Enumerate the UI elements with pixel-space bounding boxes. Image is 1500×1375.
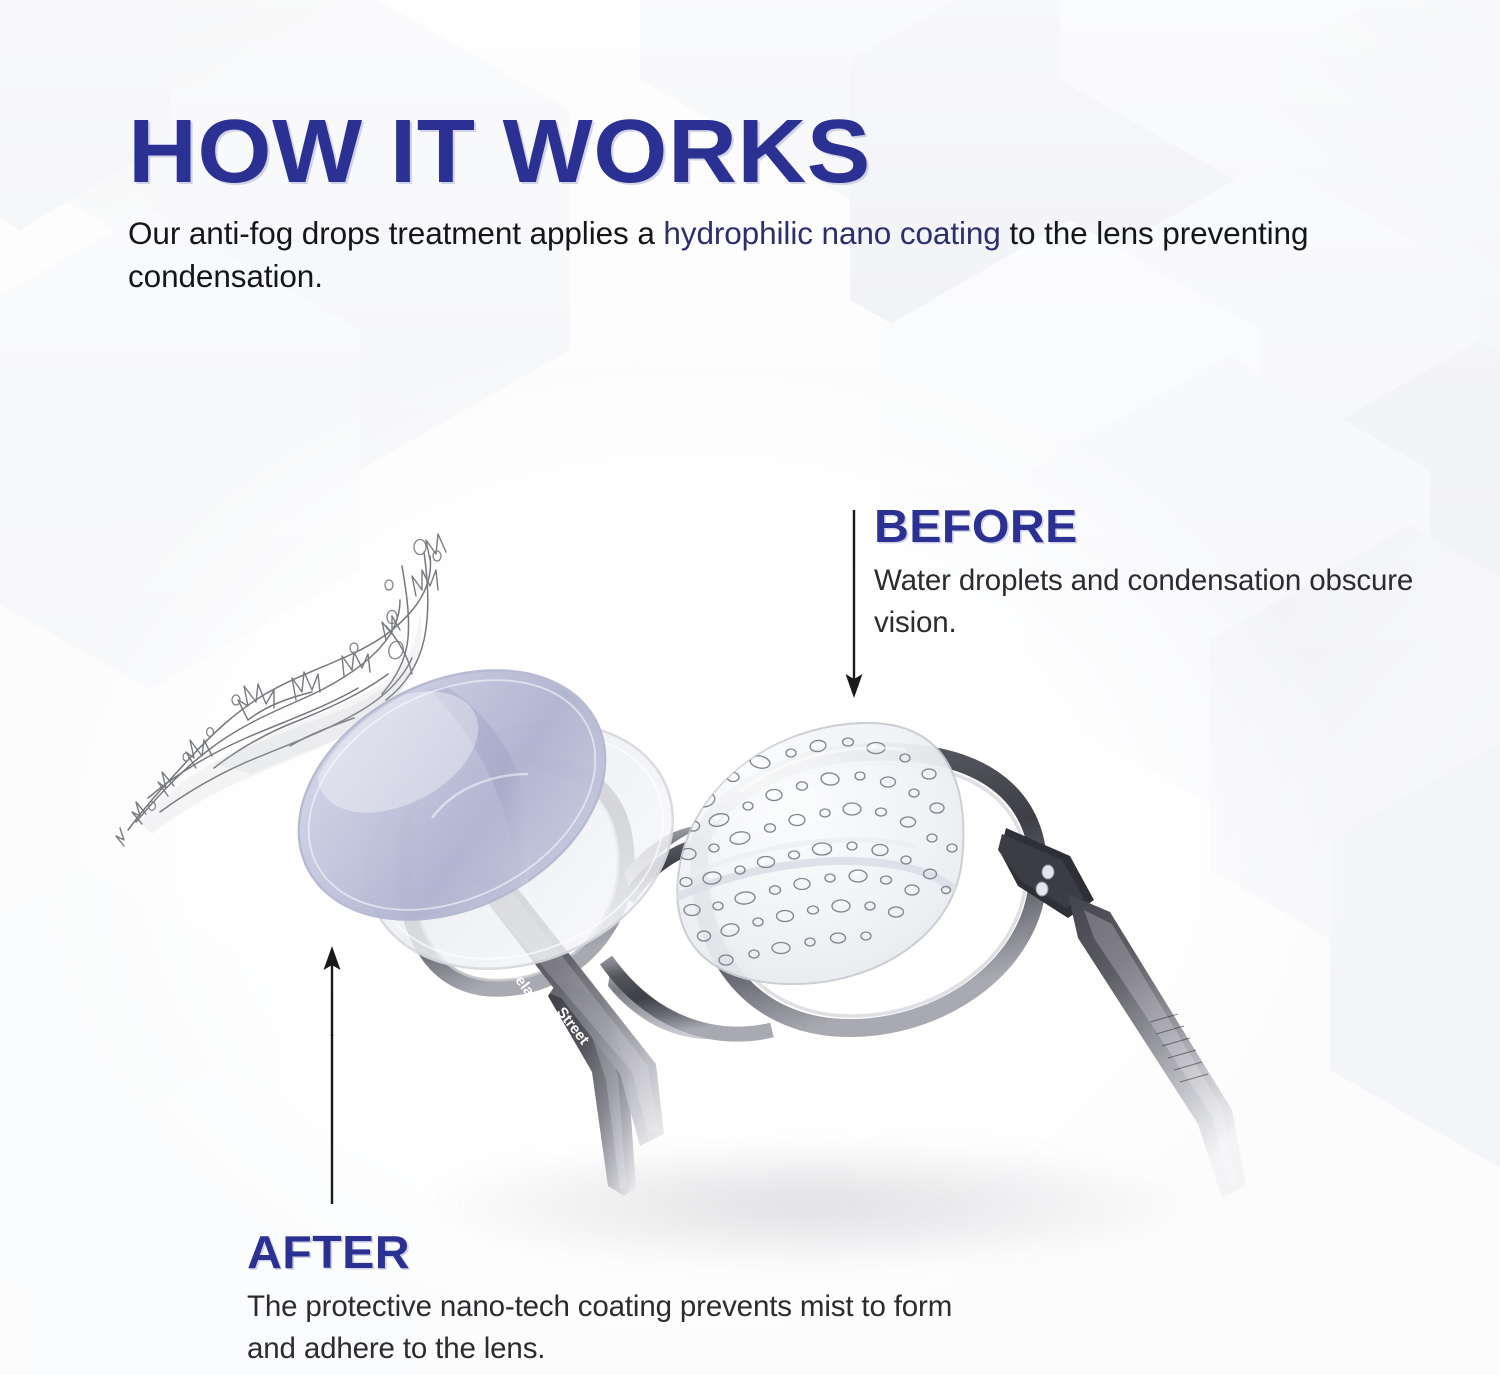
- arrow-down-icon: [838, 508, 872, 703]
- callout-after-body: The protective nano-tech coating prevent…: [247, 1286, 1007, 1370]
- callout-after: AFTER The protective nano-tech coating p…: [247, 1229, 1007, 1370]
- callout-before-body: Water droplets and condensation obscure …: [874, 560, 1474, 644]
- tinted-lens: [256, 621, 647, 969]
- subtitle-highlight: hydrophilic nano coating: [663, 215, 1000, 251]
- page-title: HOW IT WORKS: [128, 108, 1464, 196]
- droplet-covered-lens: [665, 723, 970, 984]
- page-subtitle: Our anti-fog drops treatment applies a h…: [128, 212, 1363, 298]
- brand-text-right: Street: [553, 1004, 593, 1048]
- water-splash-graphic: [116, 534, 446, 846]
- callout-after-title: AFTER: [247, 1229, 1045, 1275]
- callout-before-title: BEFORE: [874, 503, 1500, 549]
- brand-text-left: Delancey: [505, 964, 559, 1027]
- eyeglasses-frame: [404, 752, 1246, 1198]
- clear-lens: [330, 679, 710, 1012]
- frame-rivets: [1036, 865, 1118, 949]
- subtitle-part-1: Our anti-fog drops treatment applies a: [128, 215, 663, 251]
- callout-before: BEFORE Water droplets and condensation o…: [874, 503, 1474, 644]
- infographic-canvas: Delancey Street: [0, 0, 1500, 1375]
- header-block: HOW IT WORKS Our anti-fog drops treatmen…: [128, 108, 1388, 298]
- brand-engraving: Delancey Street: [505, 964, 593, 1048]
- arrow-up-icon: [316, 944, 350, 1206]
